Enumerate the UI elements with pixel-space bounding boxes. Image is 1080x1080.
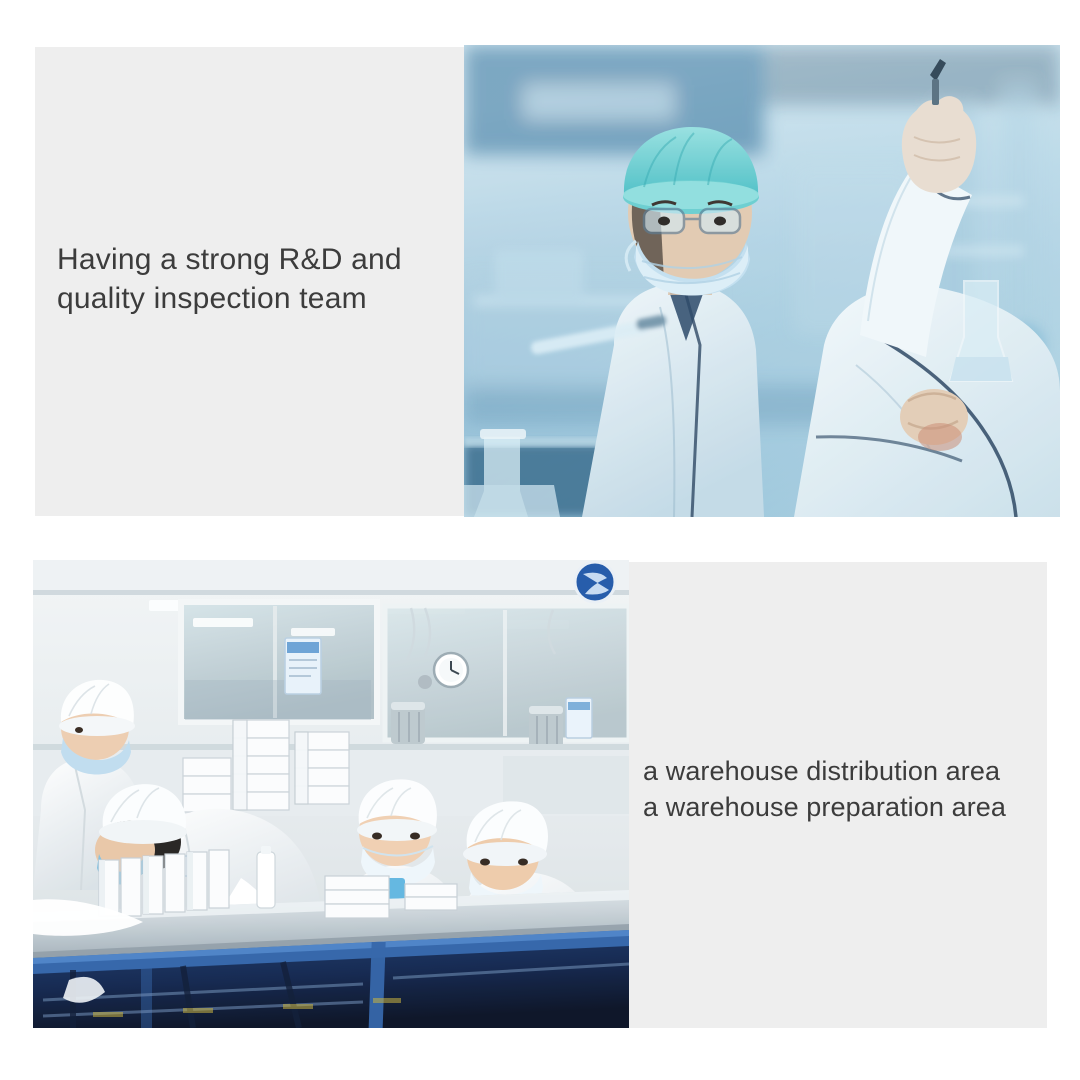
warehouse-caption: a warehouse distribution area a warehous… [643, 753, 1043, 825]
lab-inspection-illustration [464, 45, 1060, 517]
lab-inspection-photo [464, 45, 1060, 517]
poster-root: Having a strong R&D and quality inspecti… [0, 0, 1080, 1080]
warehouse-packing-photo [33, 560, 629, 1028]
warehouse-packing-illustration [33, 560, 629, 1028]
rd-quality-caption: Having a strong R&D and quality inspecti… [57, 240, 457, 318]
